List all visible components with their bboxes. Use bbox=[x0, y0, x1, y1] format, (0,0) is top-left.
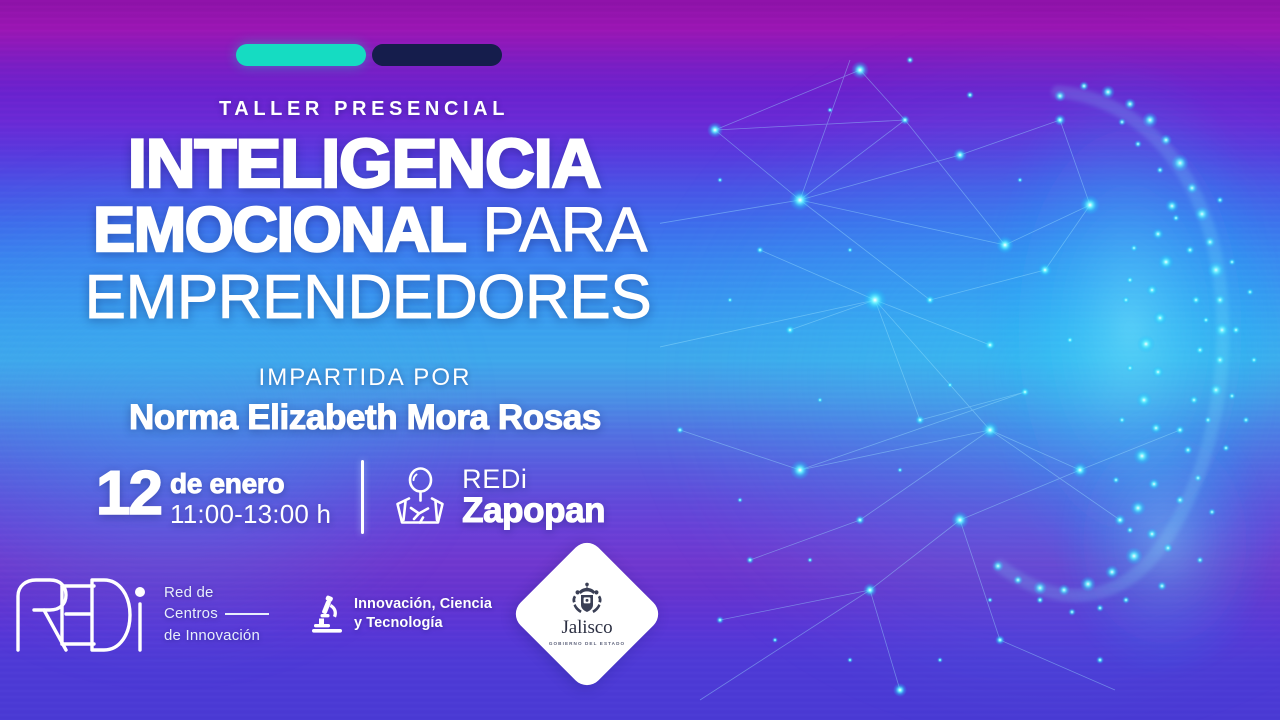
redi-logo-text: Red de Centros de Innovación bbox=[164, 582, 269, 646]
venue-line-2: Zapopan bbox=[462, 491, 605, 530]
jalisco-inner: Jalisco GOBIERNO DEL ESTADO bbox=[537, 582, 637, 646]
jalisco-subtitle: GOBIERNO DEL ESTADO bbox=[549, 641, 625, 646]
venue-line-1: REDi bbox=[462, 464, 527, 494]
speaker-label: IMPARTIDA POR bbox=[0, 364, 730, 392]
jalisco-name: Jalisco bbox=[562, 617, 613, 639]
redi-text-line-1: Red de bbox=[164, 582, 269, 603]
icyt-logo-group: Innovación, Ciencia y Tecnología bbox=[311, 594, 492, 634]
headline-line-2: EMOCIONAL PARA bbox=[0, 202, 740, 260]
headline-emocional: EMOCIONAL bbox=[93, 195, 465, 265]
headline-block: INTELIGENCIA EMOCIONAL PARA EMPRENDEDORE… bbox=[0, 132, 740, 326]
redi-text-line-2: Centros bbox=[164, 603, 218, 624]
redi-text-line-3: de Innovación bbox=[164, 625, 269, 646]
event-venue-text: REDi Zapopan bbox=[462, 465, 605, 529]
jalisco-logo-group: Jalisco GOBIERNO DEL ESTADO bbox=[532, 559, 642, 669]
icyt-text-line-2: y Tecnología bbox=[354, 615, 443, 631]
jalisco-diamond-card: Jalisco GOBIERNO DEL ESTADO bbox=[509, 536, 665, 692]
event-month: de enero bbox=[170, 469, 331, 498]
event-time: 11:00-13:00 h bbox=[170, 499, 331, 530]
pill-navy-icon bbox=[372, 44, 502, 66]
event-poster: TALLER PRESENCIAL INTELIGENCIA EMOCIONAL… bbox=[0, 0, 1280, 720]
event-meta-row: 12 de enero 11:00-13:00 h bbox=[96, 460, 605, 534]
redi-logo-group: Red de Centros de Innovación bbox=[10, 574, 269, 654]
headline-line-1: INTELIGENCIA bbox=[0, 132, 728, 195]
redi-rule-divider bbox=[225, 613, 269, 615]
speaker-name: Norma Elizabeth Mora Rosas bbox=[0, 398, 730, 438]
jalisco-coat-of-arms-icon bbox=[567, 582, 607, 616]
speaker-block: IMPARTIDA POR Norma Elizabeth Mora Rosas bbox=[0, 364, 730, 438]
icyt-text-line-1: Innovación, Ciencia bbox=[354, 596, 492, 612]
map-location-icon bbox=[392, 467, 448, 527]
event-day: 12 bbox=[96, 464, 161, 524]
microscope-icon bbox=[311, 594, 345, 634]
content-column: TALLER PRESENCIAL INTELIGENCIA EMOCIONAL… bbox=[0, 0, 760, 720]
redi-text-line-2-row: Centros bbox=[164, 603, 269, 624]
icyt-logo-text: Innovación, Ciencia y Tecnología bbox=[354, 595, 492, 633]
event-date-group: 12 de enero 11:00-13:00 h bbox=[96, 464, 331, 530]
logo-bar: Red de Centros de Innovación bbox=[0, 566, 700, 662]
eyebrow-label: TALLER PRESENCIAL bbox=[0, 98, 728, 121]
event-date-details: de enero 11:00-13:00 h bbox=[170, 464, 331, 530]
headline-line-3: EMPRENDEDORES bbox=[0, 269, 736, 326]
redi-logo-icon bbox=[10, 574, 150, 654]
decorative-pills bbox=[236, 44, 502, 66]
headline-para: PARA bbox=[482, 195, 646, 265]
event-venue-group: REDi Zapopan bbox=[392, 465, 605, 529]
pill-teal-icon bbox=[236, 44, 366, 66]
vertical-divider bbox=[361, 460, 364, 534]
